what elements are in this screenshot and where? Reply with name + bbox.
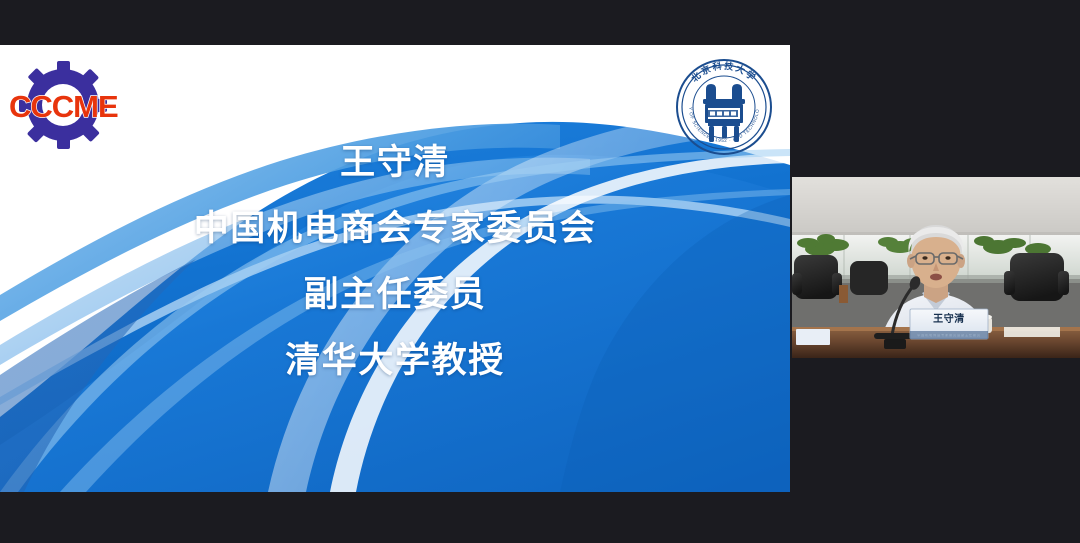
- slide-title-line-2: 中国机电商会专家委员会: [0, 211, 790, 246]
- nameplate-name-text: 王守清: [911, 315, 987, 325]
- ustb-seal-icon: 北京科技大学 UNIVERSITY OF SCIENCE · 1952 · AN…: [672, 55, 776, 159]
- presentation-slide: CCCME: [0, 45, 790, 492]
- svg-text:CCCME: CCCME: [9, 89, 118, 124]
- chair-leg: [839, 285, 848, 303]
- nameplate-subtitle-text: 中国机电商会专家委员会副主任委员: [906, 334, 992, 337]
- phone-on-table: [884, 339, 906, 349]
- nameplate-secondary: [796, 329, 830, 345]
- slide-title-block: 王守清 中国机电商会专家委员会 副主任委员 清华大学教授: [0, 145, 790, 378]
- slide-title-line-4: 清华大学教授: [0, 343, 790, 378]
- chair-left: [792, 255, 842, 299]
- chair-right: [1004, 253, 1069, 301]
- chair-back-mid: [850, 261, 888, 295]
- slide-title-line-3: 副主任委员: [0, 277, 790, 312]
- speaker-video-panel[interactable]: 王守清 中国机电商会专家委员会副主任委员: [792, 177, 1080, 358]
- cccme-logo: CCCME: [8, 59, 118, 151]
- speaker-video-frame: [792, 177, 1080, 358]
- slide-title-line-1: 王守清: [0, 145, 790, 180]
- meeting-screen: CCCME: [0, 0, 1080, 543]
- papers: [1004, 327, 1060, 337]
